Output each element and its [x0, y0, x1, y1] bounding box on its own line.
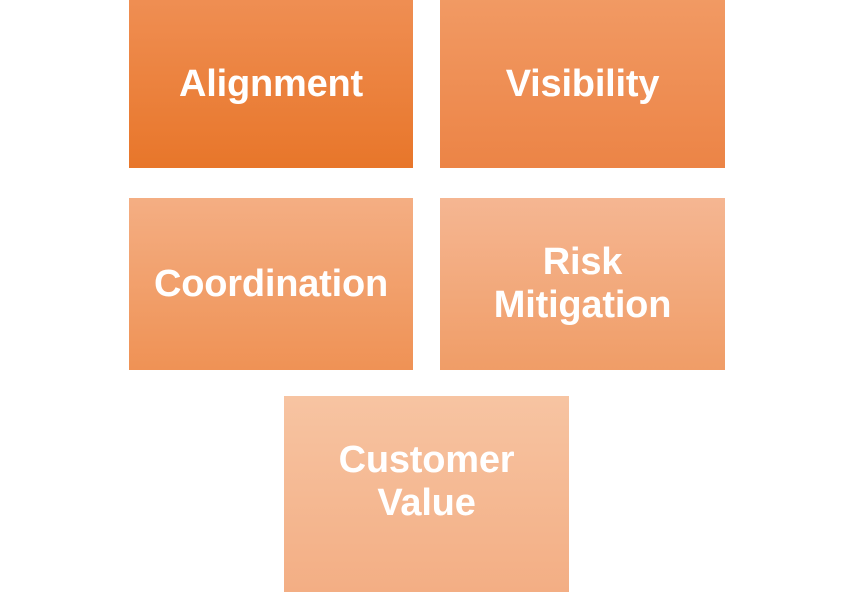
diagram-box-visibility-label: Visibility: [506, 63, 660, 106]
diagram-box-risk-mitigation-label: Risk Mitigation: [494, 241, 671, 326]
diagram-box-customer-value[interactable]: Customer Value: [284, 396, 569, 592]
diagram-box-coordination[interactable]: Coordination: [129, 198, 413, 370]
diagram-canvas: Alignment Visibility Coordination Risk M…: [0, 0, 854, 568]
diagram-box-visibility[interactable]: Visibility: [440, 0, 725, 168]
diagram-box-alignment[interactable]: Alignment: [129, 0, 413, 168]
diagram-box-coordination-label: Coordination: [154, 263, 388, 306]
diagram-box-customer-value-label: Customer Value: [339, 439, 515, 524]
diagram-box-alignment-label: Alignment: [179, 63, 363, 106]
diagram-box-risk-mitigation[interactable]: Risk Mitigation: [440, 198, 725, 370]
